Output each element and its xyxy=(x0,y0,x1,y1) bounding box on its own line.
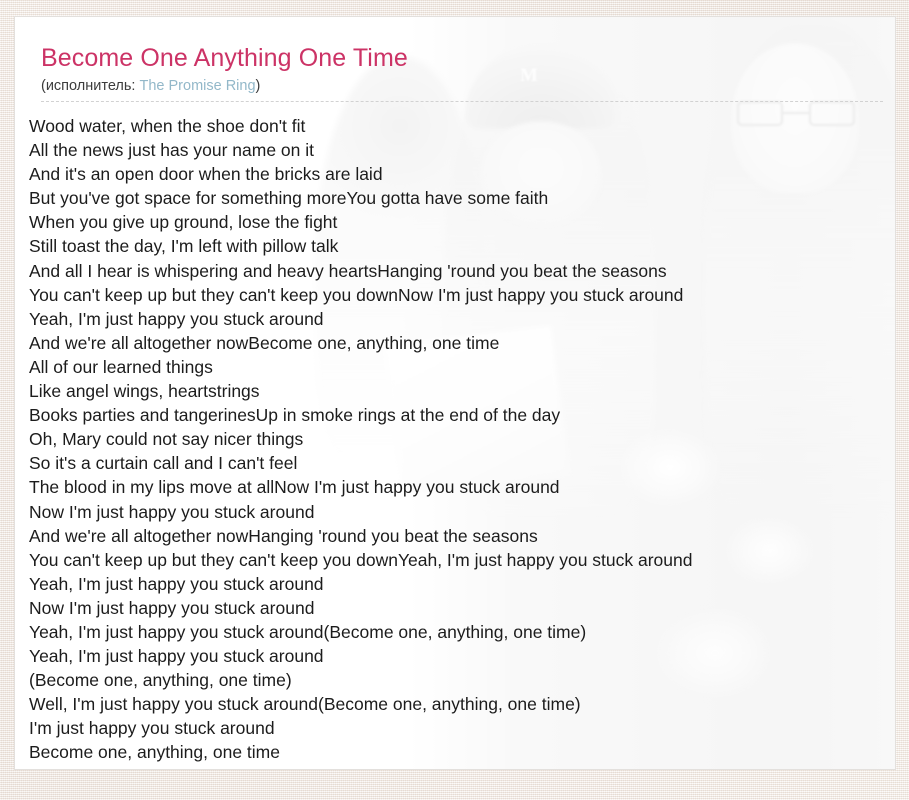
lyric-line: And we're all altogether nowHanging 'rou… xyxy=(29,524,895,548)
lyric-line: All of our learned things xyxy=(29,355,895,379)
lyrics-text: Wood water, when the shoe don't fitAll t… xyxy=(29,114,895,765)
lyric-line: You can't keep up but they can't keep yo… xyxy=(29,548,895,572)
lyric-line: When you give up ground, lose the fight xyxy=(29,210,895,234)
lyric-line: So it's a curtain call and I can't feel xyxy=(29,451,895,475)
lyric-line: Oh, Mary could not say nicer things xyxy=(29,427,895,451)
page-frame: M Become One Anything One Time (исполнит… xyxy=(0,0,909,800)
header-divider xyxy=(41,101,883,102)
lyric-line: Wood water, when the shoe don't fit xyxy=(29,114,895,138)
lyric-line: And all I hear is whispering and heavy h… xyxy=(29,259,895,283)
lyric-line: But you've got space for something moreY… xyxy=(29,186,895,210)
lyric-line: Yeah, I'm just happy you stuck around(Be… xyxy=(29,620,895,644)
artist-link[interactable]: The Promise Ring xyxy=(139,78,255,94)
artist-line: (исполнитель: The Promise Ring) xyxy=(41,77,895,96)
lyric-line: You can't keep up but they can't keep yo… xyxy=(29,283,895,307)
lyric-line: Yeah, I'm just happy you stuck around xyxy=(29,572,895,596)
lyric-line: All the news just has your name on it xyxy=(29,138,895,162)
lyric-line: And we're all altogether nowBecome one, … xyxy=(29,331,895,355)
card-header: Become One Anything One Time (исполнител… xyxy=(15,17,895,102)
lyric-line: Become one, anything, one time xyxy=(29,740,895,764)
lyric-line: I'm just happy you stuck around xyxy=(29,716,895,740)
lyric-line: Books parties and tangerinesUp in smoke … xyxy=(29,403,895,427)
lyric-line: (Become one, anything, one time) xyxy=(29,668,895,692)
lyric-line: Like angel wings, heartstrings xyxy=(29,379,895,403)
artist-prefix-label: (исполнитель: xyxy=(41,78,139,94)
lyric-line: Still toast the day, I'm left with pillo… xyxy=(29,234,895,258)
lyric-line: And it's an open door when the bricks ar… xyxy=(29,162,895,186)
artist-suffix-label: ) xyxy=(256,78,261,94)
lyric-line: Now I'm just happy you stuck around xyxy=(29,500,895,524)
lyric-line: Well, I'm just happy you stuck around(Be… xyxy=(29,692,895,716)
page-title: Become One Anything One Time xyxy=(41,43,895,73)
lyric-line: The blood in my lips move at allNow I'm … xyxy=(29,475,895,499)
lyric-line: Yeah, I'm just happy you stuck around xyxy=(29,644,895,668)
lyric-line: Now I'm just happy you stuck around xyxy=(29,596,895,620)
lyric-line: Yeah, I'm just happy you stuck around xyxy=(29,307,895,331)
lyrics-card: M Become One Anything One Time (исполнит… xyxy=(14,16,896,770)
